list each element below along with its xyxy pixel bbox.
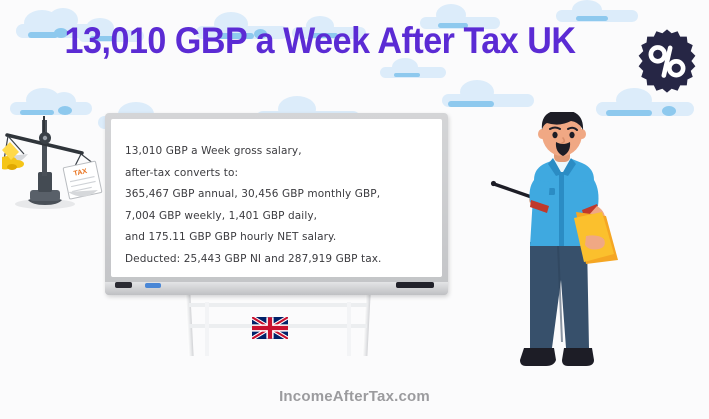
- board-line: and 175.11 GBP GBP hourly NET salary.: [125, 227, 432, 249]
- site-watermark: IncomeAfterTax.com: [0, 388, 709, 405]
- page-title: 13,010 GBP a Week After Tax UK: [26, 22, 615, 59]
- board-line: after-tax converts to:: [125, 163, 432, 185]
- whiteboard-marker-tray: [105, 282, 448, 295]
- stand-leg-inner-right: [347, 302, 351, 356]
- whiteboard-text-block: 13,010 GBP a Week gross salary, after-ta…: [125, 141, 432, 270]
- cloud-icon: [442, 80, 538, 110]
- board-line: 7,004 GBP weekly, 1,401 GBP daily,: [125, 206, 432, 228]
- board-line: 365,467 GBP annual, 30,456 GBP monthly G…: [125, 184, 432, 206]
- cloud-icon: [380, 58, 450, 80]
- blue-marker-icon: [145, 283, 161, 288]
- whiteboard-eraser-icon: [115, 282, 132, 288]
- percent-badge-icon: [634, 28, 700, 94]
- whiteboard-surface: 13,010 GBP a Week gross salary, after-ta…: [111, 119, 442, 277]
- stand-crossbar-top: [189, 303, 367, 307]
- poster-canvas: 13,010 GBP a Week After Tax UK: [0, 0, 709, 419]
- stand-leg-inner-left: [205, 302, 209, 356]
- board-line: 13,010 GBP a Week gross salary,: [125, 141, 432, 163]
- teacher-character-icon: [490, 112, 635, 382]
- board-line: Deducted: 25,443 GBP NI and 287,919 GBP …: [125, 249, 432, 271]
- whiteboard: 13,010 GBP a Week gross salary, after-ta…: [105, 113, 448, 295]
- balance-scale-icon: TAX: [2, 104, 106, 216]
- uk-flag-icon: [252, 317, 288, 339]
- black-marker-icon: [396, 282, 434, 288]
